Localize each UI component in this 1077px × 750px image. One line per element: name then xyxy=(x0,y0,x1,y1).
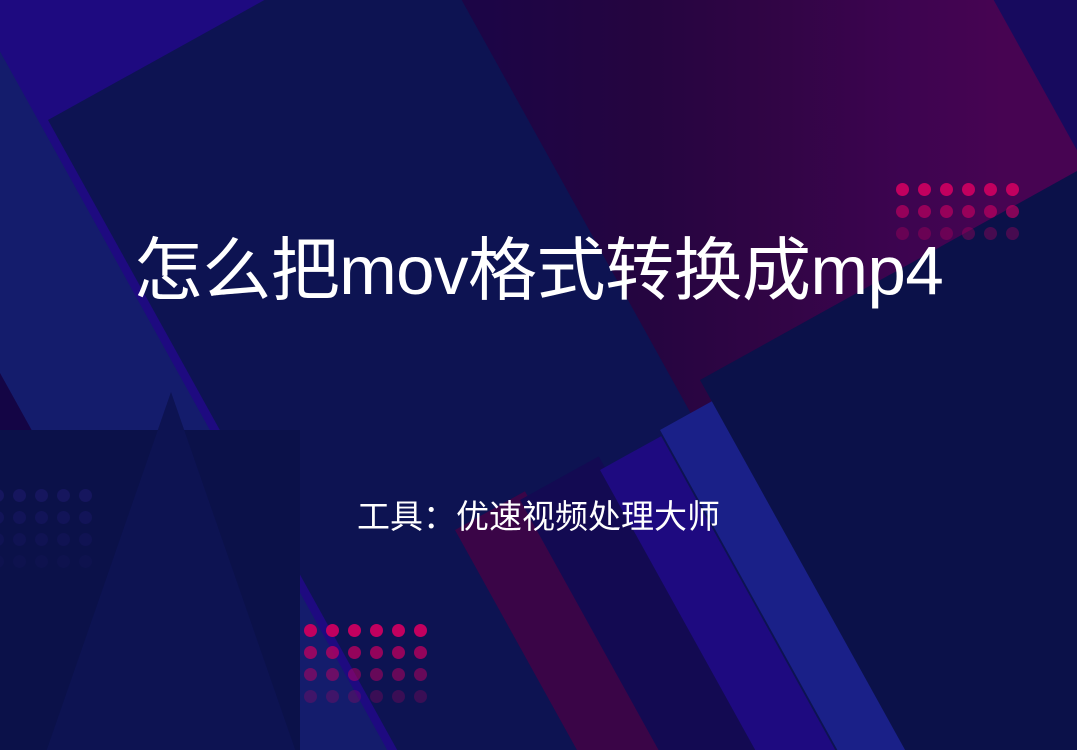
decorative-dot xyxy=(370,690,383,703)
decorative-dot xyxy=(348,646,361,659)
decorative-dot xyxy=(984,183,997,196)
decorative-dot xyxy=(13,555,26,568)
decorative-dot xyxy=(414,690,427,703)
decorative-dot xyxy=(326,668,339,681)
decorative-dot xyxy=(896,183,909,196)
decorative-dot xyxy=(414,624,427,637)
decorative-dot xyxy=(326,646,339,659)
decorative-dot xyxy=(940,183,953,196)
decorative-dot xyxy=(326,690,339,703)
decorative-dot xyxy=(0,555,4,568)
decorative-dot xyxy=(348,668,361,681)
decorative-dot xyxy=(304,668,317,681)
decorative-dot xyxy=(940,205,953,218)
decorative-dot xyxy=(326,624,339,637)
decorative-dot xyxy=(0,533,4,546)
decorative-dot xyxy=(348,624,361,637)
decorative-dot xyxy=(962,205,975,218)
decorative-dot xyxy=(79,533,92,546)
decorative-dot xyxy=(896,205,909,218)
decorative-dot xyxy=(348,690,361,703)
decorative-dot xyxy=(304,624,317,637)
decorative-dot xyxy=(918,205,931,218)
decorative-dot xyxy=(370,624,383,637)
decorative-dot xyxy=(304,690,317,703)
decorative-dot xyxy=(79,555,92,568)
decorative-dot xyxy=(57,555,70,568)
decorative-dot xyxy=(13,533,26,546)
decorative-dot xyxy=(370,668,383,681)
decorative-dot xyxy=(35,555,48,568)
background-diagonal-bands xyxy=(0,0,1077,750)
slide-subtitle: 工具：优速视频处理大师 xyxy=(0,500,1077,533)
decorative-dot xyxy=(57,533,70,546)
decorative-dot xyxy=(392,624,405,637)
decorative-dot xyxy=(1006,205,1019,218)
decorative-dot xyxy=(304,646,317,659)
decorative-dot xyxy=(414,668,427,681)
decorative-dot xyxy=(414,646,427,659)
decorative-dot xyxy=(392,646,405,659)
decorative-dot xyxy=(984,205,997,218)
presentation-slide: 怎么把mov格式转换成mp4 工具：优速视频处理大师 xyxy=(0,0,1077,750)
decorative-dot xyxy=(392,668,405,681)
decorative-dot xyxy=(962,183,975,196)
decorative-dot xyxy=(918,183,931,196)
decorative-dot xyxy=(1006,183,1019,196)
decorative-dot xyxy=(370,646,383,659)
decorative-dot xyxy=(35,533,48,546)
slide-title: 怎么把mov格式转换成mp4 xyxy=(0,236,1077,305)
dot-grid-bottom-center xyxy=(304,624,436,712)
decorative-dot xyxy=(392,690,405,703)
